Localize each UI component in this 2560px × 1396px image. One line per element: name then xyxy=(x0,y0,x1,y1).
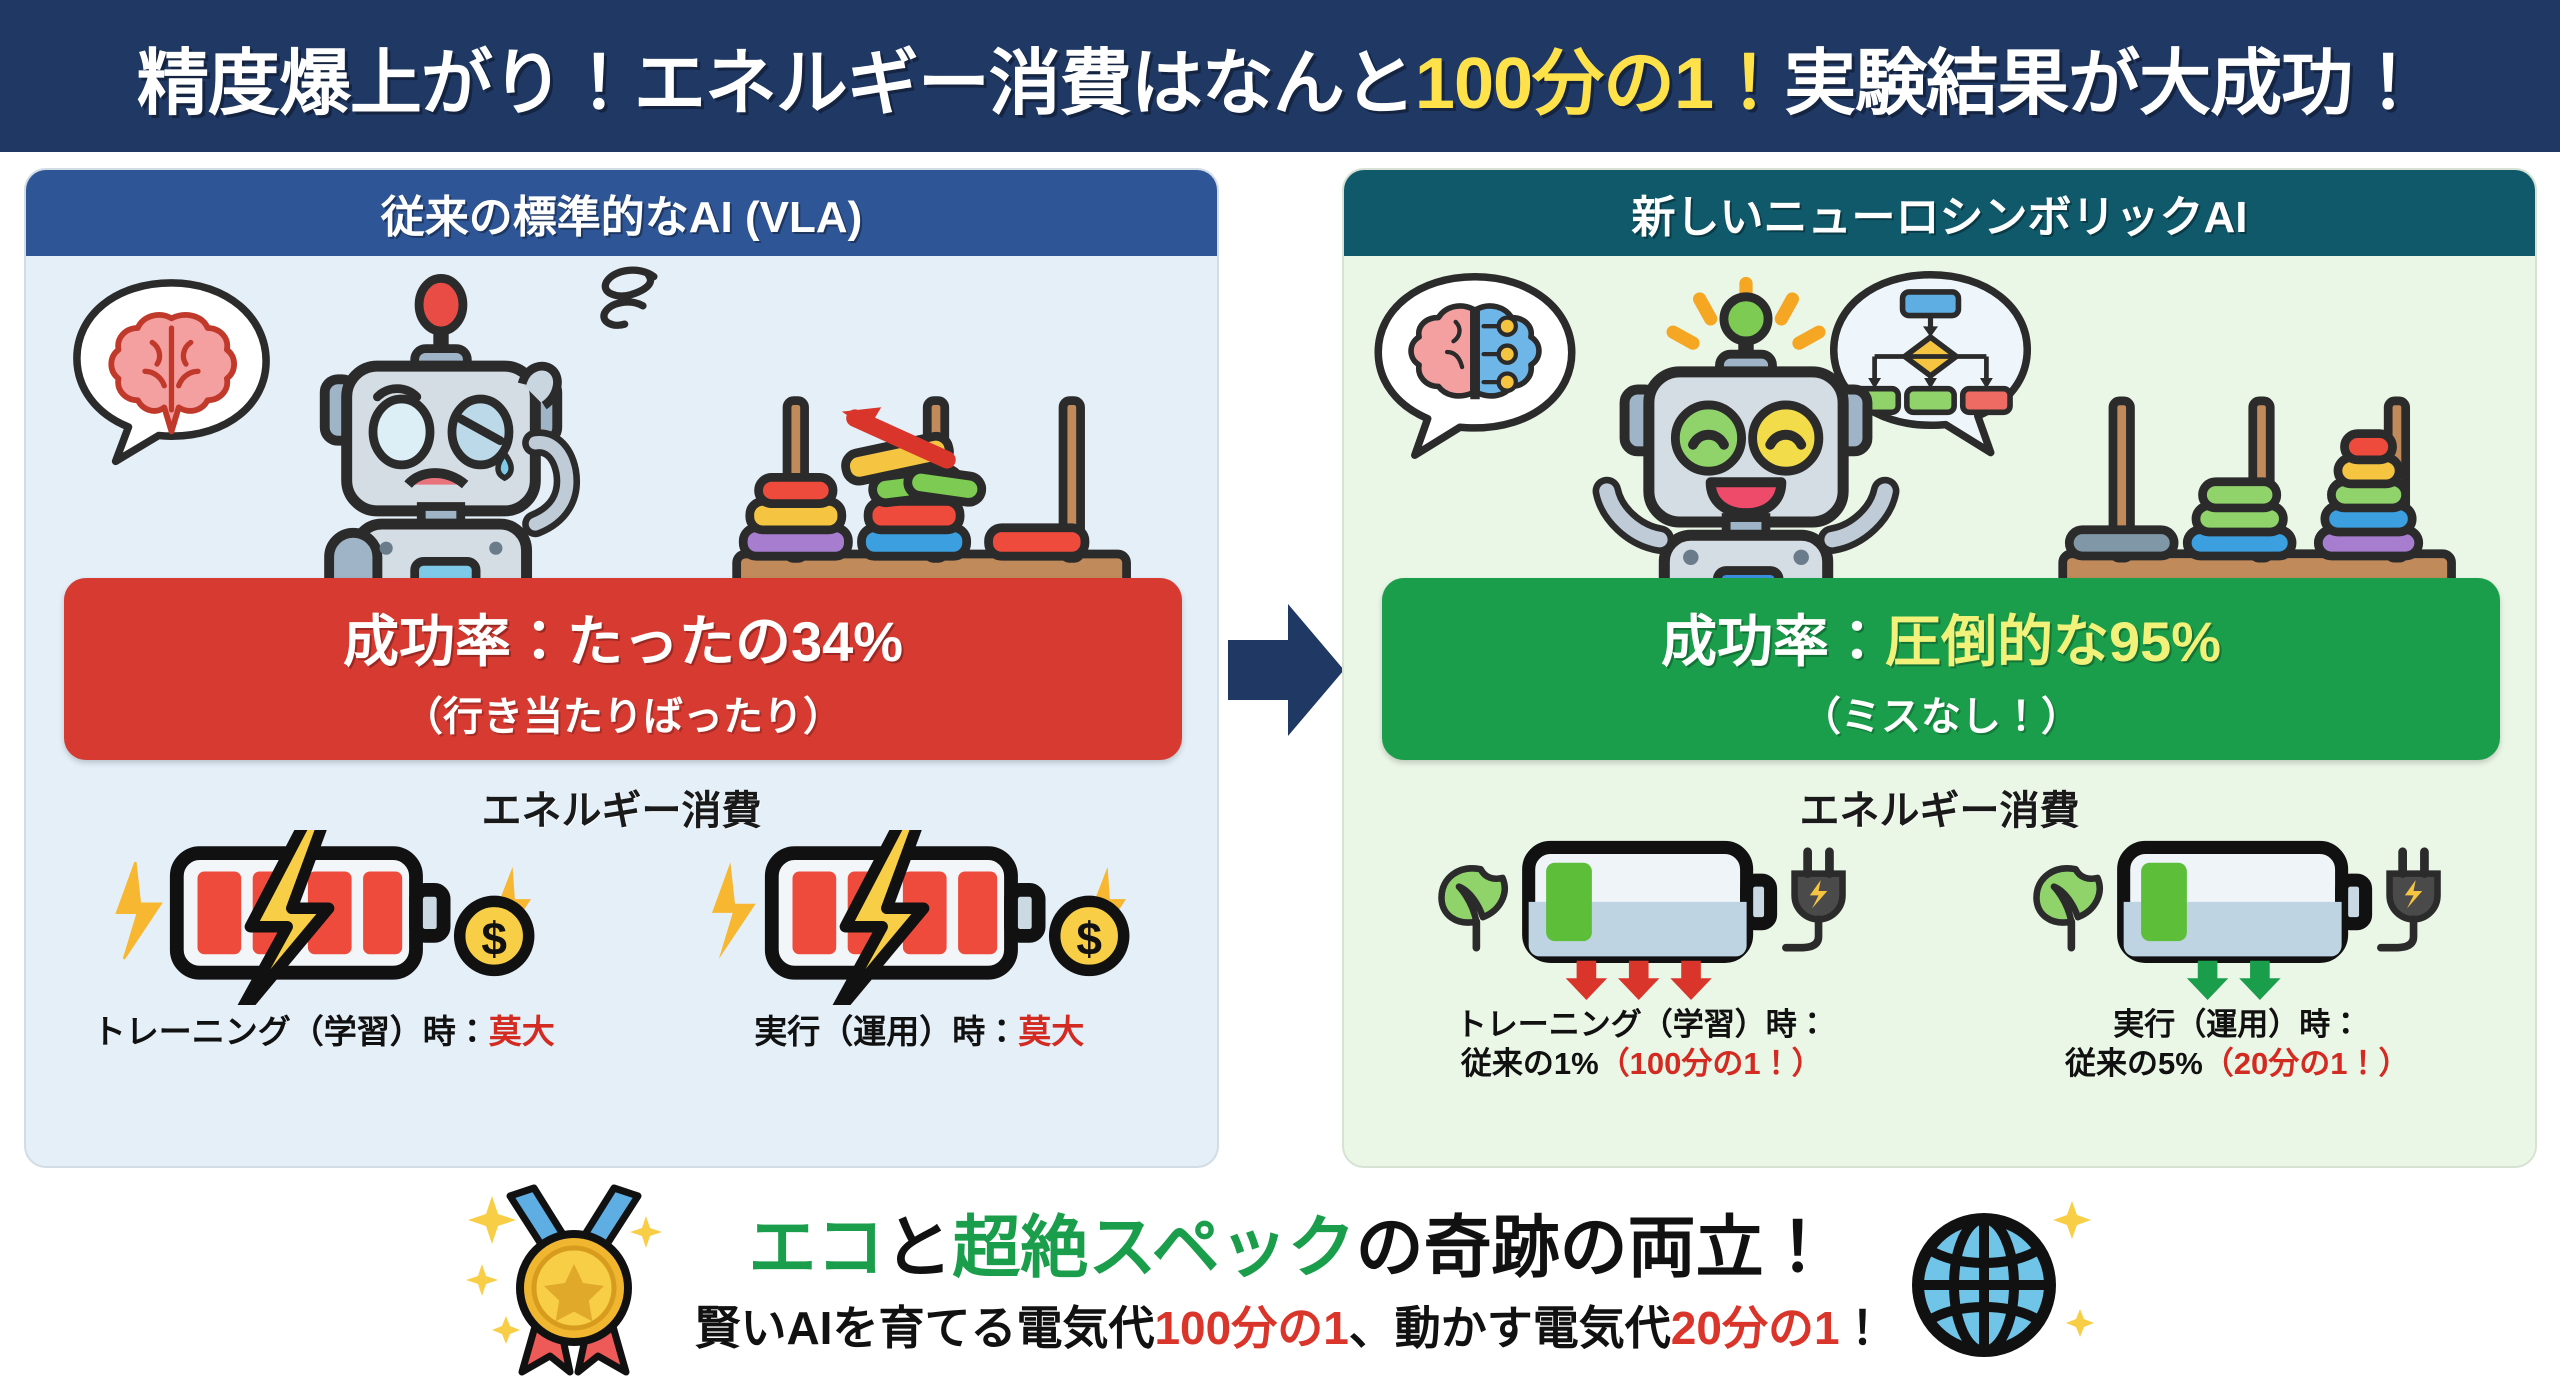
right-panel-title: 新しいニューロシンボリックAI xyxy=(1632,181,2248,245)
neat-hanoi-icon xyxy=(2054,370,2469,600)
leaf-icon xyxy=(1441,868,1504,947)
plug-icon xyxy=(1786,852,1843,948)
happy-robot-icon xyxy=(1576,270,1916,615)
right-success-prefix: 成功率： xyxy=(1661,610,1885,673)
left-energy-value-training: 莫大 xyxy=(489,1013,555,1050)
right-energy-label-training: トレーニング（学習）時： 従来の1%（100分の1！） xyxy=(1456,1006,1828,1084)
brain-bubble-icon xyxy=(64,270,279,485)
left-energy-cell-inference: $ 実行（運用）時：莫大 xyxy=(645,830,1193,1052)
sparkle-icon xyxy=(2053,1201,2094,1337)
footer-line1: エコと超絶スペックの奇跡の両立！ xyxy=(748,1210,1831,1286)
left-energy-label-inference: 実行（運用）時：莫大 xyxy=(754,1011,1084,1052)
down-arrows-red xyxy=(1565,961,1711,1000)
svg-text:$: $ xyxy=(1077,912,1103,964)
messy-hanoi-icon xyxy=(726,370,1146,600)
left-panel-header: 従来の標準的なAI (VLA) xyxy=(26,170,1217,256)
left-energy-title: エネルギー消費 xyxy=(26,778,1217,836)
left-energy-label-training: トレーニング（学習）時：莫大 xyxy=(93,1011,555,1052)
split-brain-bubble-icon xyxy=(1360,266,1590,481)
right-energy-label-inference-line1: 実行（運用）時： xyxy=(2065,1006,2410,1045)
right-panel-header: 新しいニューロシンボリックAI xyxy=(1344,170,2535,256)
dollar-coin-icon: $ xyxy=(1055,901,1124,970)
down-arrows-green xyxy=(2187,961,2281,1000)
right-panel-neurosymbolic-ai: 新しいニューロシンボリックAI xyxy=(1342,168,2537,1168)
left-success-line1: 成功率：たったの34% xyxy=(343,597,903,678)
low-battery-group-icon-2 xyxy=(2017,830,2457,1000)
footer-line2-accent1: 100分の1 xyxy=(1154,1302,1348,1354)
footer-line2: 賢いAIを育てる電気代100分の1、動かす電気代20分の1！ xyxy=(694,1292,1885,1358)
footer-line2-p1: 賢いAIを育てる電気代 xyxy=(694,1302,1154,1354)
footer-section: エコと超絶スペックの奇跡の両立！ 賢いAIを育てる電気代100分の1、動かす電気… xyxy=(0,1172,2560,1396)
header-text-after: 実験結果が大成功！ xyxy=(1784,44,2423,124)
left-energy-row: $ トレーニング（学習）時：莫大 xyxy=(26,830,1217,1160)
right-energy-cell-inference: 実行（運用）時： 従来の5%（20分の1！） xyxy=(1963,830,2511,1084)
full-battery-group-icon: $ xyxy=(94,830,554,1005)
left-panel-conventional-ai: 従来の標準的なAI (VLA) xyxy=(24,168,1219,1168)
right-energy-label-inference-line2: 従来の5%（20分の1！） xyxy=(2065,1045,2410,1084)
left-energy-label-training-text: トレーニング（学習）時： xyxy=(93,1013,489,1050)
right-success-line2: （ミスなし！） xyxy=(1801,684,2081,742)
header-text-before: 精度爆上がり！エネルギー消費はなんと xyxy=(137,44,1415,124)
transition-arrow xyxy=(1228,592,1348,748)
header-banner: 精度爆上がり！エネルギー消費はなんと100分の1！実験結果が大成功！ xyxy=(0,0,2560,152)
footer-line2-p2: 、動かす電気代 xyxy=(1349,1302,1671,1354)
left-energy-value-inference: 莫大 xyxy=(1018,1013,1084,1050)
plug-icon xyxy=(2381,852,2438,948)
right-energy-label-inference: 実行（運用）時： 従来の5%（20分の1！） xyxy=(2065,1006,2410,1084)
right-success-line1: 成功率：圧倒的な95% xyxy=(1661,597,2221,678)
left-success-line2: （行き当たりばったり） xyxy=(403,684,843,742)
medal-icon xyxy=(466,1184,676,1384)
right-energy-cell-training: トレーニング（学習）時： 従来の1%（100分の1！） xyxy=(1368,830,1916,1084)
dollar-coin-icon: $ xyxy=(459,901,528,970)
footer-line1-spec: 超絶スペック xyxy=(952,1210,1355,1286)
left-success-banner: 成功率：たったの34% （行き当たりばったり） xyxy=(64,578,1182,760)
right-energy-title: エネルギー消費 xyxy=(1344,778,2535,836)
right-energy-inference-base: 従来の5% xyxy=(2065,1046,2203,1081)
left-panel-title: 従来の標準的なAI (VLA) xyxy=(381,181,863,245)
left-energy-label-inference-text: 実行（運用）時： xyxy=(754,1013,1018,1050)
footer-line1-eco: エコ xyxy=(748,1210,884,1286)
svg-text:$: $ xyxy=(481,912,507,964)
low-battery-group-icon xyxy=(1422,830,1862,1000)
right-energy-training-base: 従来の1% xyxy=(1461,1046,1599,1081)
header-highlight: 100分の1！ xyxy=(1415,44,1784,124)
right-success-highlight: 圧倒的な95% xyxy=(1885,610,2221,673)
leaf-icon xyxy=(2037,868,2100,947)
right-energy-row: トレーニング（学習）時： 従来の1%（100分の1！） xyxy=(1344,830,2535,1160)
footer-line1-rest: の奇跡の両立！ xyxy=(1356,1210,1832,1286)
right-energy-label-training-line2: 従来の1%（100分の1！） xyxy=(1456,1045,1828,1084)
footer-inner: エコと超絶スペックの奇跡の両立！ 賢いAIを育てる電気代100分の1、動かす電気… xyxy=(466,1184,2093,1384)
left-energy-cell-training: $ トレーニング（学習）時：莫大 xyxy=(50,830,598,1052)
header-title: 精度爆上がり！エネルギー消費はなんと100分の1！実験結果が大成功！ xyxy=(137,24,2423,129)
footer-line1-and: と xyxy=(884,1210,952,1286)
footer-text-block: エコと超絶スペックの奇跡の両立！ 賢いAIを育てる電気代100分の1、動かす電気… xyxy=(694,1210,1885,1358)
footer-line2-accent2: 20分の1 xyxy=(1671,1302,1840,1354)
globe-icon xyxy=(1904,1189,2094,1379)
infographic-root: 精度爆上がり！エネルギー消費はなんと100分の1！実験結果が大成功！ 従来の標準… xyxy=(0,0,2560,1396)
right-energy-training-accent: （100分の1！） xyxy=(1599,1046,1823,1081)
footer-line2-p3: ！ xyxy=(1840,1302,1886,1354)
sad-robot-icon xyxy=(276,274,606,614)
right-success-banner: 成功率：圧倒的な95% （ミスなし！） xyxy=(1382,578,2500,760)
full-battery-group-icon-2: $ xyxy=(689,830,1149,1005)
right-energy-inference-accent: （20分の1！） xyxy=(2203,1046,2410,1081)
right-energy-label-training-line1: トレーニング（学習）時： xyxy=(1456,1006,1828,1045)
